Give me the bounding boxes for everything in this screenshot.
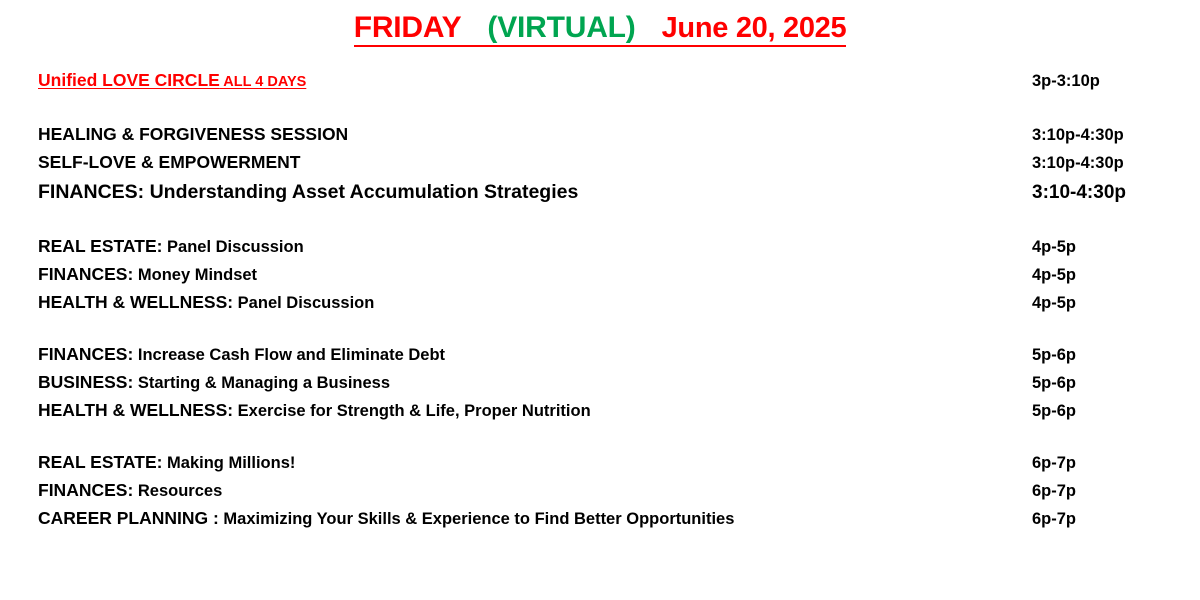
schedule-row-highlight: Unified LOVE CIRCLE ALL 4 DAYS 3p-3:10p	[38, 65, 1174, 97]
group-spacer	[38, 425, 1174, 449]
session-description: Starting & Managing a Business	[133, 374, 390, 392]
session-description: Resources	[133, 482, 222, 500]
schedule-row-time: 5p-6p	[1032, 342, 1174, 368]
session-description: Understanding Asset Accumulation Strateg…	[144, 181, 578, 203]
schedule-row-label: HEALING & FORGIVENESS SESSION	[38, 121, 1032, 149]
schedule-group: FINANCES: Increase Cash Flow and Elimina…	[38, 341, 1174, 425]
schedule-group: REAL ESTATE: Panel Discussion 4p-5p FINA…	[38, 233, 1174, 317]
schedule-list: Unified LOVE CIRCLE ALL 4 DAYS 3p-3:10p …	[0, 65, 1200, 533]
schedule-row: FINANCES: Increase Cash Flow and Elimina…	[38, 341, 1174, 369]
schedule-row-label: BUSINESS: Starting & Managing a Business	[38, 369, 1032, 397]
session-category: FINANCES:	[38, 344, 133, 364]
schedule-row-label: FINANCES: Money Mindset	[38, 261, 1032, 289]
session-category: HEALTH & WELLNESS:	[38, 292, 233, 312]
schedule-row-time: 3:10p-4:30p	[1032, 150, 1174, 176]
highlight-main-text: Unified LOVE CIRCLE	[38, 70, 220, 90]
schedule-row-label: Unified LOVE CIRCLE ALL 4 DAYS	[38, 65, 1032, 97]
schedule-group: HEALING & FORGIVENESS SESSION 3:10p-4:30…	[38, 121, 1174, 209]
schedule-row: FINANCES: Understanding Asset Accumulati…	[38, 177, 1174, 209]
schedule-row: FINANCES: Resources 6p-7p	[38, 477, 1174, 505]
session-category: CAREER PLANNING :	[38, 508, 219, 528]
schedule-row-label: FINANCES: Increase Cash Flow and Elimina…	[38, 341, 1032, 369]
session-category: REAL ESTATE:	[38, 452, 162, 472]
schedule-row: BUSINESS: Starting & Managing a Business…	[38, 369, 1174, 397]
session-category: REAL ESTATE:	[38, 236, 162, 256]
page-title: FRIDAY (VIRTUAL) June 20, 2025	[0, 0, 1200, 47]
schedule-row: HEALTH & WELLNESS: Exercise for Strength…	[38, 397, 1174, 425]
title-day: FRIDAY	[354, 11, 462, 44]
schedule-row-time: 5p-6p	[1032, 398, 1174, 424]
session-category: FINANCES:	[38, 480, 133, 500]
schedule-row: HEALTH & WELLNESS: Panel Discussion 4p-5…	[38, 289, 1174, 317]
schedule-row: FINANCES: Money Mindset 4p-5p	[38, 261, 1174, 289]
session-description: Panel Discussion	[162, 238, 303, 256]
schedule-group: REAL ESTATE: Making Millions! 6p-7p FINA…	[38, 449, 1174, 533]
session-description: Maximizing Your Skills & Experience to F…	[219, 510, 735, 528]
schedule-row-time: 6p-7p	[1032, 478, 1174, 504]
title-virtual-tag: (VIRTUAL)	[487, 11, 635, 44]
session-description: Exercise for Strength & Life, Proper Nut…	[233, 402, 591, 420]
session-category: FINANCES:	[38, 264, 133, 284]
title-underline-wrapper: FRIDAY (VIRTUAL) June 20, 2025	[354, 12, 847, 47]
schedule-row-label: FINANCES: Understanding Asset Accumulati…	[38, 177, 1032, 209]
schedule-row-time: 4p-5p	[1032, 262, 1174, 288]
title-date: June 20, 2025	[662, 12, 847, 44]
session-description: Money Mindset	[133, 266, 257, 284]
schedule-row: SELF-LOVE & EMPOWERMENT 3:10p-4:30p	[38, 149, 1174, 177]
schedule-row-time: 4p-5p	[1032, 234, 1174, 260]
session-category: BUSINESS:	[38, 372, 133, 392]
schedule-row-label: SELF-LOVE & EMPOWERMENT	[38, 149, 1032, 177]
session-category: FINANCES:	[38, 181, 144, 203]
schedule-row-time: 3:10-4:30p	[1032, 178, 1174, 208]
schedule-row-label: HEALTH & WELLNESS: Exercise for Strength…	[38, 397, 1032, 425]
schedule-row-label: REAL ESTATE: Panel Discussion	[38, 233, 1032, 261]
session-category: HEALING & FORGIVENESS SESSION	[38, 124, 348, 144]
group-spacer	[38, 317, 1174, 341]
session-category: HEALTH & WELLNESS:	[38, 400, 233, 420]
schedule-row-label: HEALTH & WELLNESS: Panel Discussion	[38, 289, 1032, 317]
schedule-row-label: REAL ESTATE: Making Millions!	[38, 449, 1032, 477]
schedule-row: REAL ESTATE: Making Millions! 6p-7p	[38, 449, 1174, 477]
group-spacer	[38, 209, 1174, 233]
highlight-entry-text: Unified LOVE CIRCLE ALL 4 DAYS	[38, 70, 306, 90]
schedule-row-time: 3:10p-4:30p	[1032, 122, 1174, 148]
highlight-suffix-text: ALL 4 DAYS	[220, 74, 307, 90]
schedule-row-time: 6p-7p	[1032, 450, 1174, 476]
schedule-row-time: 6p-7p	[1032, 506, 1174, 532]
schedule-row-label: CAREER PLANNING : Maximizing Your Skills…	[38, 505, 1032, 533]
schedule-row-time: 3p-3:10p	[1032, 66, 1174, 96]
schedule-row-label: FINANCES: Resources	[38, 477, 1032, 505]
schedule-row: HEALING & FORGIVENESS SESSION 3:10p-4:30…	[38, 121, 1174, 149]
session-description: Increase Cash Flow and Eliminate Debt	[133, 346, 445, 364]
schedule-row: CAREER PLANNING : Maximizing Your Skills…	[38, 505, 1174, 533]
schedule-row-time: 4p-5p	[1032, 290, 1174, 316]
session-category: SELF-LOVE & EMPOWERMENT	[38, 152, 301, 172]
session-description: Making Millions!	[162, 454, 295, 472]
session-description: Panel Discussion	[233, 294, 374, 312]
schedule-row-time: 5p-6p	[1032, 370, 1174, 396]
schedule-page: FRIDAY (VIRTUAL) June 20, 2025 Unified L…	[0, 0, 1200, 600]
group-spacer	[38, 97, 1174, 121]
schedule-row: REAL ESTATE: Panel Discussion 4p-5p	[38, 233, 1174, 261]
